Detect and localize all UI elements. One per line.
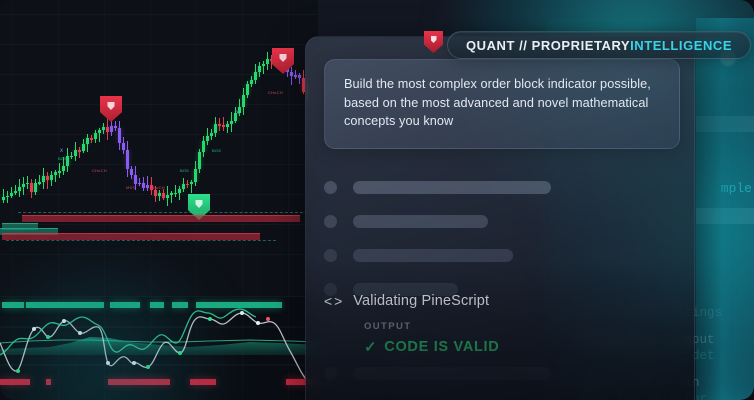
chart-cross-marker: x	[60, 148, 63, 154]
brand-title: QUANT // PROPRIETARY	[466, 38, 630, 53]
oscillator-signal-bar	[0, 379, 30, 385]
grid-line	[58, 0, 59, 400]
trading-chart[interactable]: BOSCHoCHBOSCHoCHBOSMSSCHoCHxx	[0, 0, 318, 400]
skeleton-dot	[324, 249, 337, 262]
skeleton-bar	[353, 181, 551, 194]
grid-line	[12, 0, 13, 400]
skeleton-dot	[324, 215, 337, 228]
skeleton-bar	[353, 367, 551, 380]
oscillator-signal-bar	[108, 379, 170, 385]
grid-line	[0, 254, 318, 255]
grid-line	[0, 164, 318, 165]
oscillator-pane	[0, 296, 318, 400]
grid-line	[104, 0, 105, 400]
oscillator-signal-bar	[150, 302, 164, 308]
assistant-panel[interactable]: Build the most complex order block indic…	[305, 36, 695, 400]
chart-label: BOS	[180, 168, 189, 173]
grid-line	[150, 0, 151, 400]
chart-label: MSS	[126, 185, 135, 190]
chart-cross-marker: x	[236, 110, 239, 116]
grid-line	[0, 104, 318, 105]
skeleton-row	[324, 249, 513, 262]
grid-line	[0, 44, 318, 45]
prompt-text: Build the most complex order block indic…	[344, 75, 662, 131]
validation-result: ✓ CODE IS VALID	[364, 338, 499, 356]
oscillator-signal-bar	[172, 302, 188, 308]
chart-label: CHoCH	[150, 185, 165, 190]
check-icon: ✓	[364, 338, 377, 356]
skeleton-row	[324, 181, 551, 194]
skeleton-bar	[353, 215, 488, 228]
grid-line	[0, 74, 318, 75]
grid-line	[0, 224, 318, 225]
skeleton-dot	[324, 367, 337, 380]
skeleton-dot	[324, 181, 337, 194]
validating-header: < > Validating PineScript	[324, 293, 499, 309]
grid-line	[0, 194, 318, 195]
validating-section: < > Validating PineScript OUTPUT ✓ CODE …	[324, 293, 499, 356]
prompt-bubble[interactable]: Build the most complex order block indic…	[324, 59, 680, 149]
brand-title-highlight: INTELLIGENCE	[630, 38, 732, 53]
code-panel-glow-edge	[696, 18, 754, 400]
order-block-band	[2, 223, 38, 230]
order-block-dashed-edge	[6, 240, 276, 241]
code-brackets-icon: < >	[324, 293, 341, 309]
chart-label: BOS	[58, 156, 67, 161]
grid-line	[242, 0, 243, 400]
oscillator-signal-bar	[26, 302, 104, 308]
chart-label: CHoCH	[268, 90, 283, 95]
order-block-band	[2, 233, 260, 240]
skeleton-bar	[353, 249, 513, 262]
brand-pill[interactable]: QUANT // PROPRIETARY INTELLIGENCE	[447, 31, 751, 59]
code-highlight-band	[696, 208, 754, 224]
output-label: OUTPUT	[364, 321, 499, 332]
skeleton-row	[324, 215, 488, 228]
oscillator-signal-bar	[196, 302, 282, 308]
chart-label: BOS	[212, 148, 221, 153]
validating-title: Validating PineScript	[353, 293, 489, 309]
code-highlight-band	[696, 116, 754, 132]
oscillator-signal-bar	[46, 379, 51, 385]
oscillator-signal-bar	[2, 302, 24, 308]
code-fragment: mple	[721, 181, 752, 196]
skeleton-row	[324, 367, 551, 380]
order-block-band	[22, 215, 300, 222]
chart-label: CHoCH	[92, 168, 107, 173]
validation-result-text: CODE IS VALID	[384, 339, 499, 355]
oscillator-signal-bar	[190, 379, 216, 385]
grid-line	[0, 14, 318, 15]
oscillator-signal-bar	[110, 302, 140, 308]
order-block-dashed-edge	[18, 212, 308, 213]
app-frame: BOSCHoCHBOSCHoCHBOSMSSCHoCHxx //Settings…	[0, 0, 754, 400]
grid-line	[0, 134, 318, 135]
